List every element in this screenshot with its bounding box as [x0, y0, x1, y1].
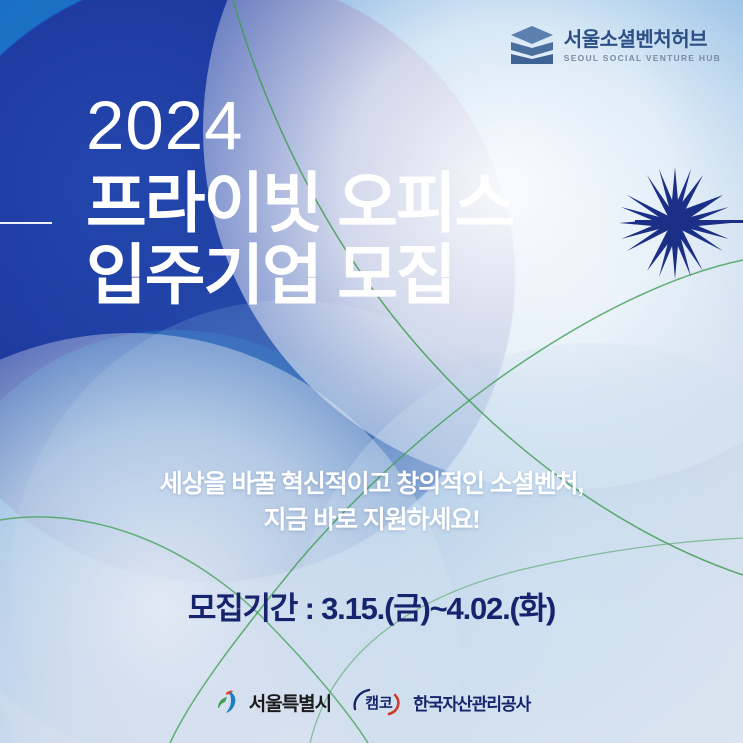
- tagline-line-2: 지금 바로 지원하세요!: [0, 502, 743, 538]
- hub-logo-name-en: SEOUL SOCIAL VENTURE HUB: [564, 54, 721, 63]
- footer-logos: 서울특별시 캠코 한국자산관리공사: [0, 687, 743, 717]
- svg-text:캠코: 캠코: [365, 694, 393, 712]
- seoul-city-emblem-icon: [213, 689, 243, 715]
- seoul-city-logo: 서울특별시: [213, 689, 331, 716]
- poster-title: 2024 프라이빗 오피스 입주기업 모집: [86, 92, 513, 311]
- tagline-line-1: 세상을 바꿀 혁신적이고 창의적인 소셜벤처,: [0, 466, 743, 502]
- title-line-1: 프라이빗 오피스: [86, 168, 513, 239]
- seoul-social-venture-hub-logo: 서울소셜벤처허브 SEOUL SOCIAL VENTURE HUB: [509, 24, 721, 68]
- title-line-2: 입주기업 모집: [86, 240, 513, 311]
- promotional-poster: 서울소셜벤처허브 SEOUL SOCIAL VENTURE HUB 2024 프…: [0, 0, 743, 743]
- starburst-icon: [615, 163, 735, 283]
- layered-chevron-icon: [509, 24, 555, 68]
- hub-logo-name-ko: 서울소셜벤처허브: [564, 30, 721, 50]
- seoul-city-logo-name: 서울특별시: [249, 689, 331, 716]
- title-year: 2024: [86, 92, 513, 160]
- poster-tagline: 세상을 바꿀 혁신적이고 창의적인 소셜벤처, 지금 바로 지원하세요!: [0, 466, 743, 539]
- left-rule-icon: [0, 222, 52, 224]
- kamco-logo: 캠코 한국자산관리공사: [351, 687, 530, 717]
- kamco-logo-name: 한국자산관리공사: [413, 690, 530, 715]
- kamco-emblem-icon: 캠코: [351, 687, 407, 717]
- recruitment-period: 모집기간 : 3.15.(금)~4.02.(화): [0, 583, 743, 628]
